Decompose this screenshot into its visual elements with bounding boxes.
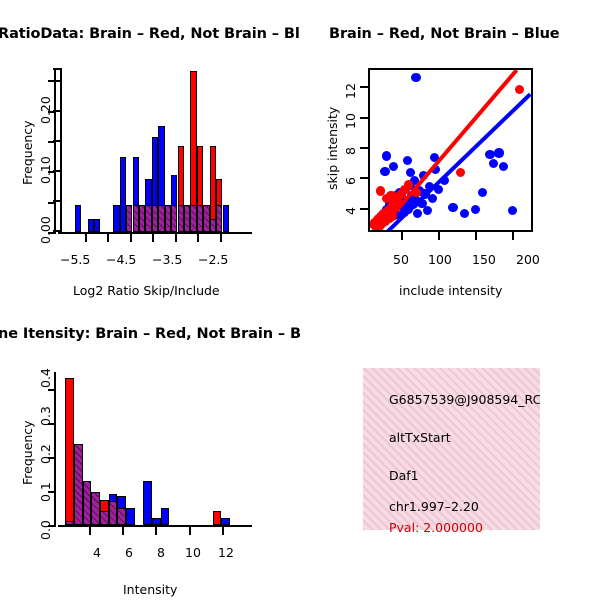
hist-bar	[94, 219, 100, 232]
xtick	[438, 232, 440, 240]
ratio-hist-yaxis	[54, 68, 56, 232]
xtick	[222, 527, 224, 535]
xtick	[512, 232, 514, 240]
xtick	[89, 527, 91, 535]
hist-bar	[213, 511, 222, 525]
ytick	[48, 111, 56, 113]
scatter-point	[456, 168, 465, 177]
ytick	[48, 491, 56, 493]
ytick	[48, 423, 56, 425]
ytick	[48, 202, 56, 204]
scatter-point	[508, 206, 517, 215]
hist-bar-overlap	[65, 521, 74, 525]
ytick	[360, 86, 368, 88]
hist-bar	[143, 481, 152, 525]
hist-bar-overlap	[109, 501, 118, 525]
scatter-point	[499, 162, 508, 171]
ytick	[48, 171, 56, 173]
scatter-point	[423, 206, 432, 215]
scatter-point	[494, 148, 503, 157]
ytick	[48, 141, 56, 143]
scatter-point	[489, 159, 498, 168]
scatter-point	[413, 209, 422, 218]
hist-bar	[161, 508, 170, 525]
hist-baseline	[58, 232, 252, 234]
ytick	[48, 525, 56, 527]
hist-bar-overlap	[216, 205, 222, 232]
scatter-point	[448, 203, 457, 212]
xtick	[152, 234, 154, 242]
hist-bar	[221, 518, 230, 525]
xtick	[130, 234, 132, 242]
hist-bar	[223, 205, 229, 232]
ytick	[360, 117, 368, 119]
xtick	[197, 234, 199, 242]
ytick	[360, 177, 368, 179]
hist-bar-overlap	[190, 205, 196, 232]
hist-bar-overlap	[74, 444, 83, 525]
hist-bar	[152, 518, 161, 525]
xtick	[175, 234, 177, 242]
hist-bar-overlap	[145, 205, 151, 232]
hist-bar-overlap	[117, 508, 126, 525]
hist-bar	[75, 205, 81, 232]
hist-bar-overlap	[171, 205, 177, 232]
scatter-point	[403, 156, 412, 165]
ytick	[360, 147, 368, 149]
hist-bar-overlap	[126, 205, 132, 232]
scatter-point	[406, 168, 415, 177]
scatter-point	[389, 162, 398, 171]
scatter-clip	[370, 70, 531, 230]
scatter-point	[460, 209, 469, 218]
ytick	[48, 457, 56, 459]
scatter-point	[485, 150, 494, 159]
xtick	[475, 232, 477, 240]
scatter-point	[478, 188, 487, 197]
scatter-point	[380, 167, 389, 176]
xtick	[401, 232, 403, 240]
scatter-point	[382, 151, 391, 160]
scatter-point	[471, 205, 480, 214]
ytick	[48, 232, 56, 234]
hist-bar-overlap	[91, 492, 100, 525]
xtick	[220, 234, 222, 242]
ytick	[48, 389, 56, 391]
hist-bar-overlap	[83, 481, 92, 525]
xtick	[122, 527, 124, 535]
xtick	[107, 234, 109, 242]
hist-bar	[126, 508, 135, 525]
hist-bar-overlap	[100, 511, 109, 525]
scatter-point	[386, 191, 395, 200]
scatter-point	[515, 85, 524, 94]
ytick	[48, 80, 56, 82]
xtick	[85, 234, 87, 242]
xtick	[155, 527, 157, 535]
graphics-layer	[0, 0, 600, 600]
hist-bar	[65, 378, 74, 525]
xtick	[189, 527, 191, 535]
gene-hist-yaxis	[54, 372, 56, 525]
scatter-point	[411, 73, 420, 82]
ytick	[360, 208, 368, 210]
scatter-point	[428, 194, 437, 203]
